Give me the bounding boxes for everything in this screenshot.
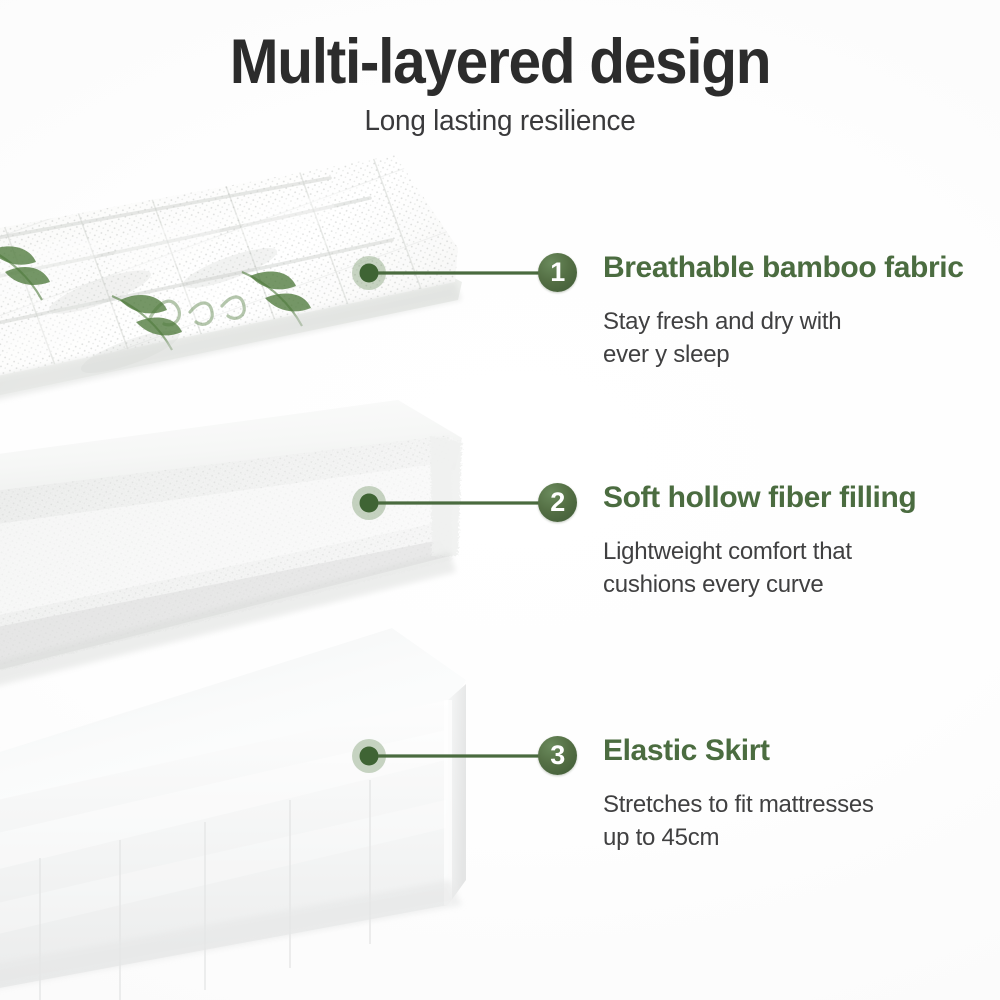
callout-body-3: Stretches to fit mattresses up to 45cm (603, 788, 874, 854)
callout-heading-1: Breathable bamboo fabric (603, 250, 963, 286)
callout-number-2: 2 (538, 483, 577, 522)
callout-heading-3: Elastic Skirt (603, 733, 770, 769)
page-title: Multi-layered design (35, 0, 965, 98)
infographic-canvas: Multi-layered design Long lasting resili… (0, 0, 1000, 1000)
header: Multi-layered design Long lasting resili… (0, 0, 1000, 139)
callout-body-2: Lightweight comfort that cushions every … (603, 535, 852, 601)
callout-heading-2: Soft hollow fiber filling (603, 480, 916, 516)
callout-body-1: Stay fresh and dry with ever y sleep (603, 305, 841, 371)
callout-number-3: 3 (538, 736, 577, 775)
callout-number-1: 1 (538, 253, 577, 292)
elastic-skirt-base-layer (0, 628, 466, 1000)
page-subtitle: Long lasting resilience (20, 98, 980, 139)
